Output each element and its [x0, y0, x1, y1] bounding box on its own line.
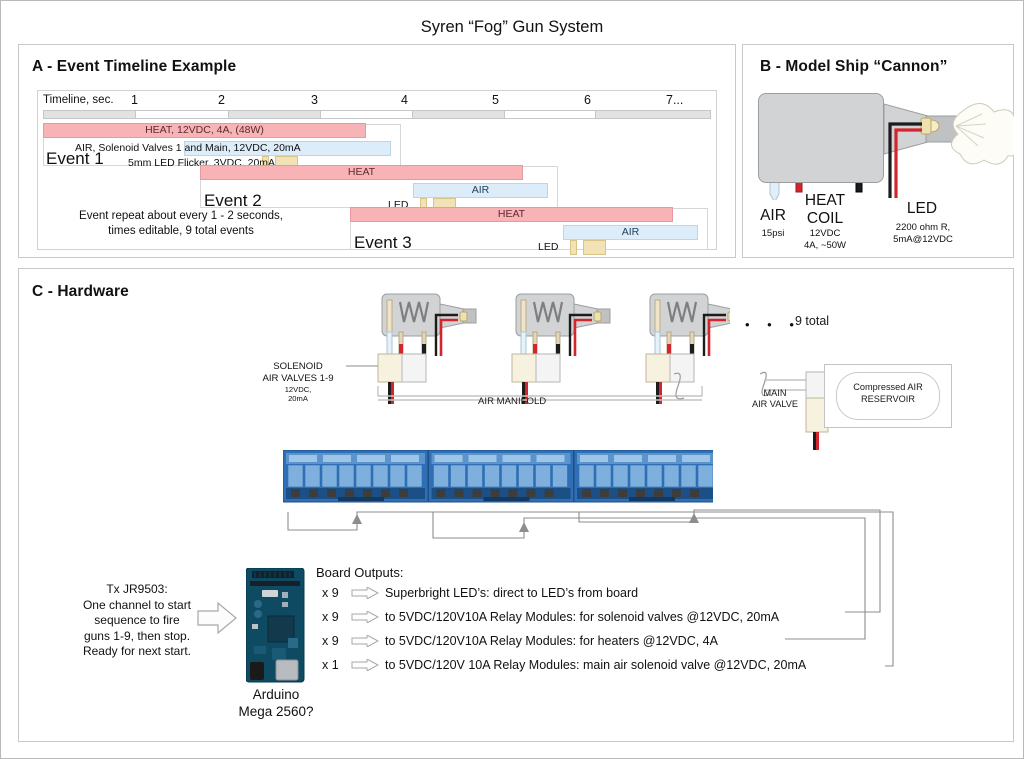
tick-label-4: 4	[401, 93, 408, 107]
air-manifold-label: AIR MANIFOLD	[478, 396, 546, 407]
event-1-name: Event 1	[46, 149, 104, 169]
document-title: Syren “Fog” Gun System	[0, 18, 1024, 37]
main-air-valve-label: MAINAIR VALVE	[744, 388, 806, 410]
label-air: AIR	[750, 207, 796, 225]
output-text-1: Superbright LED’s: direct to LED’s from …	[385, 586, 638, 600]
output-arrow-icon-4	[351, 659, 381, 671]
label-coil-spec-1: 12VDC	[794, 228, 856, 240]
output-qty-2: x 9	[322, 610, 348, 624]
board-output-row-4: x 1 to 5VDC/120V 10A Relay Modules: main…	[322, 658, 806, 680]
arduino-label: ArduinoMega 2560?	[222, 686, 330, 720]
output-text-4: to 5VDC/120V 10A Relay Modules: main air…	[385, 658, 806, 672]
event-3-led-flicker-2	[583, 240, 606, 255]
timeline-ruler	[43, 110, 711, 119]
board-output-row-2: x 9 to 5VDC/120V10A Relay Modules: for s…	[322, 610, 779, 632]
ellipsis-dots: • • •	[745, 317, 801, 332]
label-heat: HEAT	[794, 192, 856, 210]
output-arrow-icon-1	[351, 587, 381, 599]
reservoir-label: Compressed AIRRESERVOIR	[836, 381, 940, 405]
arduino-mega-board	[246, 568, 306, 684]
output-text-2: to 5VDC/120V10A Relay Modules: for solen…	[385, 610, 779, 624]
panel-b-title: B - Model Ship “Cannon”	[760, 58, 947, 76]
panel-c-title: C - Hardware	[32, 283, 129, 301]
event-3-heat-bar: HEAT	[350, 207, 673, 222]
label-led-spec-2: 5mA@12VDC	[886, 234, 960, 246]
panel-a-title: A - Event Timeline Example	[32, 58, 236, 76]
event-2-air-bar: AIR	[413, 183, 548, 198]
event-2-name: Event 2	[204, 191, 262, 211]
event-3-led-flicker-1	[570, 240, 577, 255]
tick-label-2: 2	[218, 93, 225, 107]
event-3-led-label: LED	[538, 241, 558, 253]
event-1-air-label: AIR, Solenoid Valves 1 and Main, 12VDC, …	[75, 142, 301, 154]
output-qty-4: x 1	[322, 658, 348, 672]
label-led: LED	[893, 200, 951, 218]
output-qty-1: x 9	[322, 586, 348, 600]
board-outputs-title: Board Outputs:	[316, 565, 403, 580]
solenoid-valves-label: SOLENOIDAIR VALVES 1-9	[252, 361, 344, 384]
event-1-heat-bar: HEAT, 12VDC, 4A, (48W)	[43, 123, 366, 138]
timeline-axis-label: Timeline, sec.	[43, 94, 114, 106]
tick-label-1: 1	[131, 93, 138, 107]
flow-arrow-icon	[196, 600, 240, 640]
board-output-row-3: x 9 to 5VDC/120V10A Relay Modules: for h…	[322, 634, 718, 656]
label-coil: COIL	[794, 210, 856, 228]
output-qty-3: x 9	[322, 634, 348, 648]
output-text-3: to 5VDC/120V10A Relay Modules: for heate…	[385, 634, 718, 648]
tick-label-7: 7...	[666, 93, 683, 107]
tick-label-3: 3	[311, 93, 318, 107]
output-arrow-icon-2	[351, 611, 381, 623]
output-arrow-icon-3	[351, 635, 381, 647]
event-repeat-note: Event repeat about every 1 - 2 seconds,t…	[46, 209, 316, 238]
manifold-break-icon	[660, 372, 700, 402]
label-coil-spec-2: 4A, ~50W	[794, 240, 856, 252]
event-3-name: Event 3	[354, 233, 412, 253]
tick-label-5: 5	[492, 93, 499, 107]
event-3-air-bar: AIR	[563, 225, 698, 240]
label-led-spec-1: 2200 ohm R,	[886, 222, 960, 234]
cannon-body	[758, 93, 884, 183]
event-2-heat-bar: HEAT	[200, 165, 523, 180]
label-air-spec: 15psi	[750, 228, 796, 240]
nine-total-label: 9 total	[795, 314, 829, 328]
solenoid-valves-spec: 12VDC,20mA	[252, 385, 344, 403]
tick-label-6: 6	[584, 93, 591, 107]
board-output-row-1: x 9 Superbright LED’s: direct to LED’s f…	[322, 586, 638, 608]
